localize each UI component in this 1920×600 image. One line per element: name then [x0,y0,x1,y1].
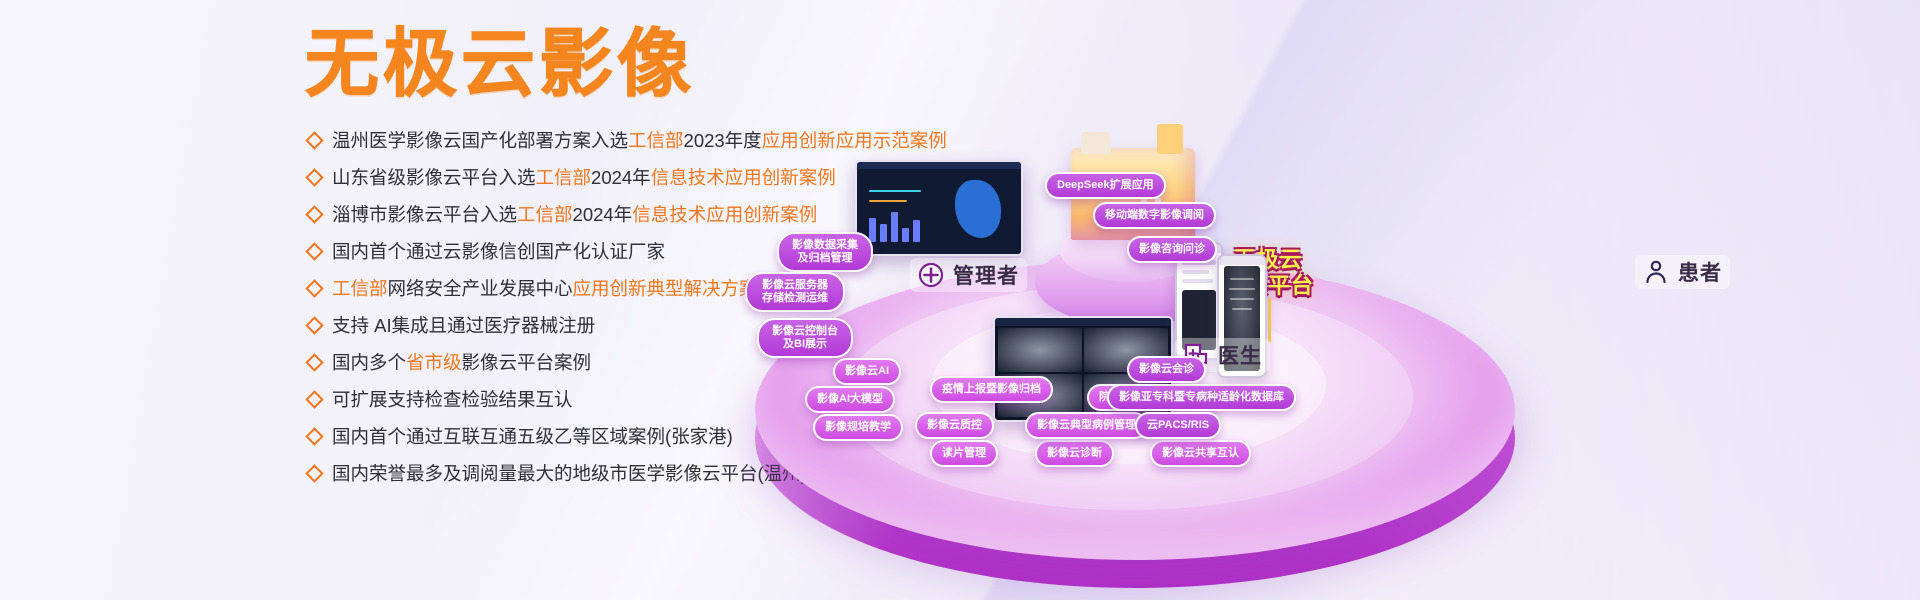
pill-doctor-0[interactable]: 影像云AI [833,358,901,385]
diamond-bullet-icon [305,427,323,445]
title-leader-line [1268,298,1271,342]
pill-patient-5[interactable]: 云PACS/RIS [1135,412,1221,439]
role-doctor-label: 医生 [1218,340,1262,370]
pill-patient-4[interactable]: 影像亚专科暨专病种适龄化数据库 [1107,384,1296,411]
bullet-highlight-segment: 应用创新典型解决方案 [573,278,758,299]
bullet-plain-segment: 2024年 [591,167,651,188]
feature-bullet-text: 工信部网络安全产业发展中心应用创新典型解决方案 [332,277,758,301]
bullet-plain-segment: 国内多个 [332,352,406,373]
role-patient[interactable]: 患者 [1635,255,1730,289]
brand-wordmark: 无极云影像 [305,24,695,104]
bullet-plain-segment: 淄博市影像云平台入选 [332,204,517,225]
platform-3d-diagram: 无极云 影像平台 [735,120,1920,590]
bullet-highlight-segment: 工信部 [536,167,592,188]
pill-doctor-6[interactable]: 影像云诊断 [1035,440,1114,467]
role-manager-label: 管理者 [953,260,1019,290]
role-patient-label: 患者 [1678,257,1722,287]
diamond-bullet-icon [305,205,323,223]
pill-doctor-3[interactable]: 疫情上报暨影像归档 [930,376,1053,403]
diamond-bullet-icon [305,390,323,408]
pill-manager-2[interactable]: 影像云控制台 及BI展示 [757,318,853,358]
pill-doctor-1[interactable]: 影像AI大模型 [805,386,895,413]
feature-bullet-text: 可扩展支持检查检验结果互认 [332,388,573,412]
bullet-highlight-segment: 工信部 [628,130,684,151]
bullet-plain-segment: 影像云平台案例 [462,352,592,373]
pill-doctor-9[interactable]: 影像云共享互认 [1150,440,1251,467]
pill-doctor-8[interactable]: 影像云典型病例管理 [1025,412,1148,439]
bullet-highlight-segment: 工信部 [332,278,388,299]
bullet-plain-segment: 国内首个通过互联互通五级乙等区域案例(张家港) [332,426,733,447]
diamond-bullet-icon [305,131,323,149]
diamond-bullet-icon [305,464,323,482]
bullet-plain-segment: 支持 AI集成且通过医疗器械注册 [332,315,595,336]
pill-doctor-2[interactable]: 影像规培教学 [813,414,903,441]
bullet-highlight-segment: 省市级 [406,352,462,373]
pill-manager-0[interactable]: 影像数据采集 及归档管理 [777,232,873,272]
pill-manager-1[interactable]: 影像云服务器 存储检测运维 [745,272,845,312]
pill-patient-1[interactable]: 移动端数字影像调阅 [1093,202,1216,229]
bullet-plain-segment: 温州医学影像云国产化部署方案入选 [332,130,628,151]
diamond-bullet-icon [305,168,323,186]
bullet-plain-segment: 山东省级影像云平台入选 [332,167,536,188]
feature-bullet-text: 国内多个省市级影像云平台案例 [332,351,591,375]
feature-bullet-text: 国内首个通过云影像信创国产化认证厂家 [332,240,665,264]
pill-doctor-5[interactable]: 读片管理 [930,440,998,467]
pill-patient-2[interactable]: 影像咨询问诊 [1127,236,1217,263]
pill-doctor-4[interactable]: 影像云质控 [915,412,994,439]
bullet-plain-segment: 国内首个通过云影像信创国产化认证厂家 [332,241,665,262]
bullet-plain-segment: 2024年 [573,204,633,225]
hospital-plus-circle-icon [918,262,944,288]
bullet-plain-segment: 可扩展支持检查检验结果互认 [332,389,573,410]
diamond-bullet-icon [305,353,323,371]
diamond-bullet-icon [305,279,323,297]
person-icon [1643,259,1669,285]
pill-patient-3[interactable]: 影像云会诊 [1127,356,1206,383]
bullet-highlight-segment: 工信部 [517,204,573,225]
feature-bullet-text: 支持 AI集成且通过医疗器械注册 [332,314,595,338]
diamond-bullet-icon [305,316,323,334]
dashboard-screen [855,160,1023,256]
bullet-plain-segment: 网络安全产业发展中心 [388,278,573,299]
role-manager[interactable]: 管理者 [910,258,1027,292]
feature-bullet-text: 国内首个通过互联互通五级乙等区域案例(张家港) [332,425,733,449]
pill-patient-0[interactable]: DeepSeek扩展应用 [1045,172,1166,199]
diamond-bullet-icon [305,242,323,260]
